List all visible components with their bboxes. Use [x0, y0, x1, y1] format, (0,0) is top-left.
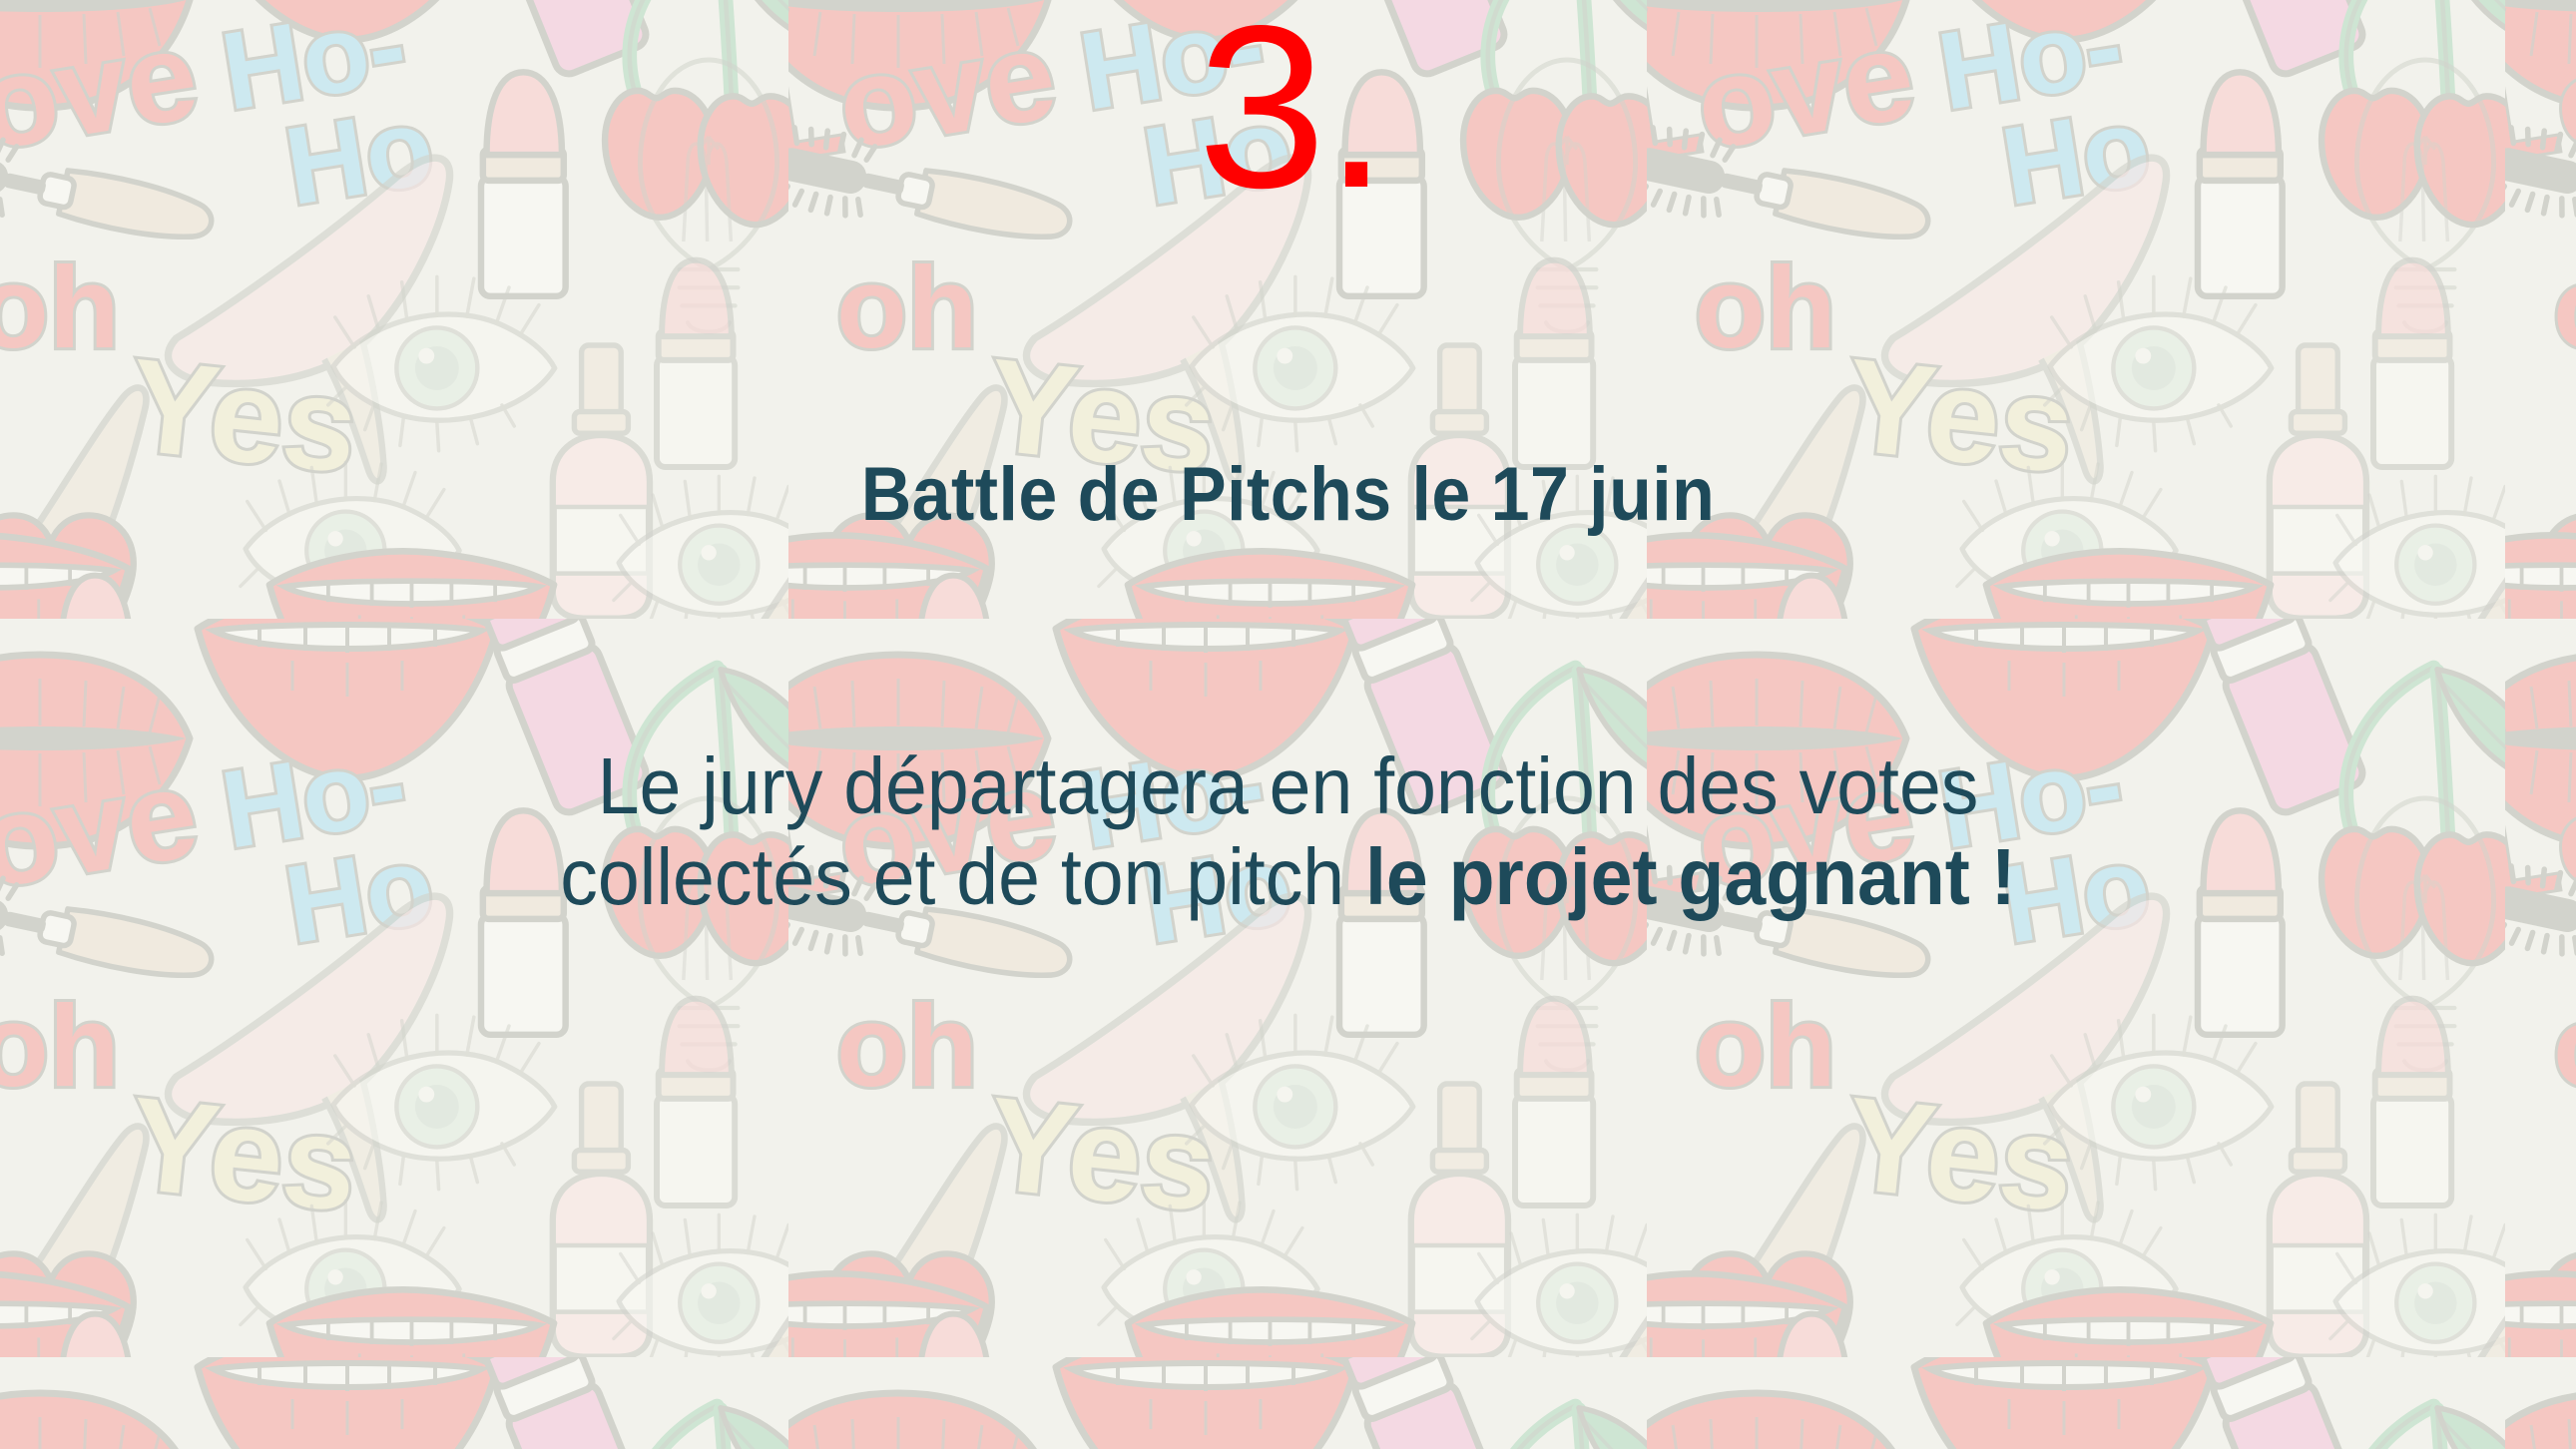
body-line-2-prefix: collectés et de ton pitch: [560, 832, 1365, 921]
body-line-2: collectés et de ton pitch le projet gagn…: [77, 831, 2498, 922]
body-line-2-emphasis: le projet gagnant !: [1365, 832, 2016, 921]
step-number: 3.: [0, 0, 2576, 224]
slide-canvas: Love Ho- Ho oh Yes: [0, 0, 2576, 1449]
slide-content: 3. Battle de Pitchs le 17 juin Le jury d…: [0, 0, 2576, 1449]
body-line-1: Le jury départagera en fonction des vote…: [77, 740, 2498, 831]
body-text: Le jury départagera en fonction des vote…: [77, 740, 2498, 922]
page-title: Battle de Pitchs le 17 juin: [103, 455, 2473, 535]
